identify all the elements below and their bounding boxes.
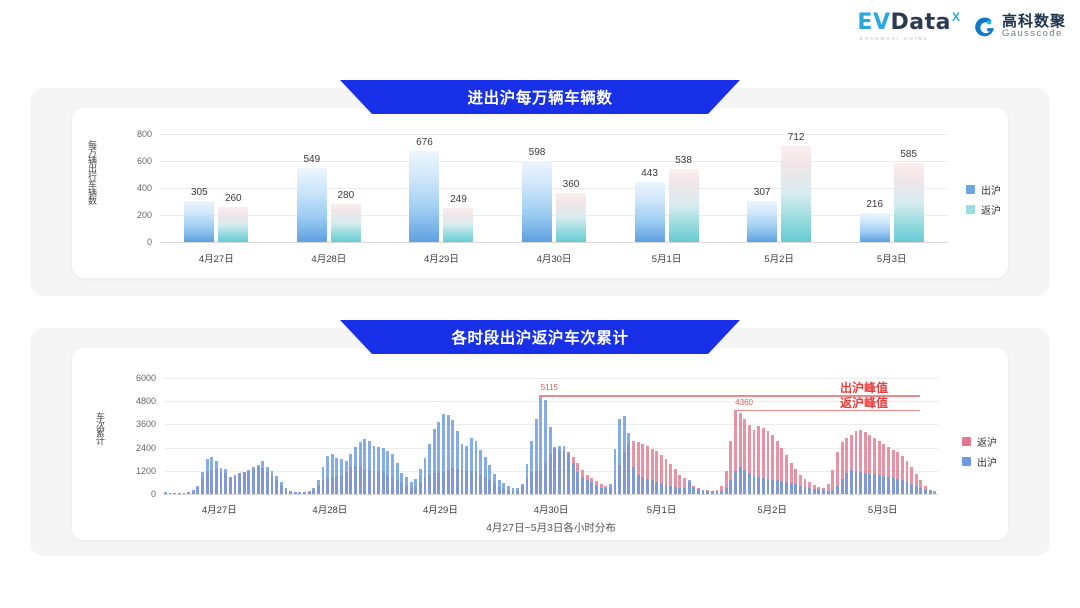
hourly-bar-out bbox=[206, 459, 209, 494]
hourly-bar-out bbox=[271, 471, 274, 494]
hourly-bar-out bbox=[192, 490, 195, 494]
hourly-bar-out bbox=[196, 486, 199, 494]
hourly-bar-out bbox=[428, 444, 431, 494]
gausscode-en: Gausscode bbox=[1002, 29, 1066, 39]
legend-section2: 返沪出沪 bbox=[962, 434, 997, 469]
hourly-bar-out bbox=[864, 473, 867, 494]
hourly-bar-out bbox=[651, 480, 654, 494]
hourly-bar-out bbox=[702, 490, 705, 494]
y-tick-label: 0 bbox=[120, 237, 152, 247]
hourly-bar-out bbox=[173, 493, 176, 494]
y-tick-label: 3600 bbox=[122, 419, 156, 429]
hourly-bar-out bbox=[901, 480, 904, 494]
x-tick-label: 5月3日 bbox=[868, 502, 898, 516]
hourly-bar-out bbox=[224, 469, 227, 494]
x-tick-label: 4月30日 bbox=[537, 251, 572, 265]
bar-返沪-5月2日 bbox=[781, 146, 811, 242]
hourly-bar-out bbox=[567, 453, 570, 494]
hourly-bar-out bbox=[780, 481, 783, 494]
legend-swatch-出沪 bbox=[966, 185, 975, 194]
hourly-bar-out bbox=[753, 476, 756, 494]
hourly-bar-out bbox=[215, 461, 218, 494]
x-tick-label: 4月28日 bbox=[312, 502, 347, 516]
hourly-bar-out bbox=[544, 400, 547, 494]
bar-出沪-5月2日 bbox=[747, 201, 777, 242]
hourly-bar-out bbox=[234, 475, 237, 494]
hourly-bar-out bbox=[697, 489, 700, 494]
legend-swatch-出沪 bbox=[962, 457, 971, 466]
logo-bar: EVData X SHANGHAI CHINA 高科数聚 Gausscode bbox=[857, 12, 1066, 41]
annotation-line-返沪峰值 bbox=[734, 410, 920, 411]
hourly-bar-out bbox=[553, 447, 556, 494]
hourly-bar-out bbox=[488, 465, 491, 494]
section1-title-ribbon: 进出沪每万辆车辆数 bbox=[340, 80, 740, 114]
x-tick-label: 4月29日 bbox=[423, 502, 458, 516]
bar-value-label: 216 bbox=[866, 199, 883, 210]
bar-出沪-4月30日 bbox=[522, 161, 552, 242]
x-tick-label: 5月1日 bbox=[652, 251, 682, 265]
legend-label-返沪: 返沪 bbox=[977, 434, 997, 449]
hourly-bar-out bbox=[933, 491, 936, 494]
bar-返沪-4月30日 bbox=[556, 193, 586, 242]
hourly-bar-out bbox=[637, 475, 640, 494]
bar-value-label: 360 bbox=[563, 179, 580, 190]
hourly-bar-out bbox=[734, 471, 737, 494]
bar-value-label: 598 bbox=[529, 147, 546, 158]
section1-card: 每万辆出行车辆数02004006008003052604月27日5492804月… bbox=[72, 108, 1008, 278]
y-tick-label: 400 bbox=[120, 183, 152, 193]
hourly-bar-out bbox=[859, 472, 862, 494]
bar-出沪-4月27日 bbox=[184, 201, 214, 242]
hourly-bar-out bbox=[896, 479, 899, 494]
hourly-bar-out bbox=[572, 463, 575, 494]
hourly-bar-out bbox=[220, 468, 223, 494]
legend-swatch-返沪 bbox=[966, 205, 975, 214]
gausscode-cn: 高科数聚 bbox=[1002, 14, 1066, 30]
evdata-suffix: Data bbox=[890, 10, 950, 35]
hourly-bar-out bbox=[308, 491, 311, 494]
legend-label-出沪: 出沪 bbox=[981, 182, 1001, 197]
hourly-bar-out bbox=[229, 477, 232, 494]
bar-出沪-5月1日 bbox=[635, 182, 665, 242]
hourly-bar-out bbox=[720, 491, 723, 494]
hourly-bar-out bbox=[303, 492, 306, 494]
hourly-bar-out bbox=[767, 479, 770, 494]
gridline bbox=[160, 215, 948, 216]
hourly-bar-out bbox=[771, 480, 774, 495]
hourly-bar-out bbox=[359, 442, 362, 494]
bar-返沪-4月27日 bbox=[218, 207, 248, 242]
hourly-bar-out bbox=[530, 441, 533, 494]
hourly-bar-out bbox=[493, 474, 496, 494]
bar-value-label: 305 bbox=[191, 187, 208, 198]
hourly-bar-out bbox=[614, 449, 617, 494]
bar-value-label: 280 bbox=[338, 190, 355, 201]
hourly-bar-out bbox=[595, 485, 598, 494]
hourly-bar-out bbox=[576, 472, 579, 494]
gridline bbox=[164, 401, 938, 402]
hourly-bar-out bbox=[868, 474, 871, 494]
bar-value-label: 549 bbox=[304, 154, 321, 165]
hourly-bar-out bbox=[655, 482, 658, 494]
hourly-bar-out bbox=[790, 483, 793, 494]
hourly-bar-out bbox=[437, 422, 440, 495]
hourly-bar-out bbox=[164, 492, 167, 494]
hourly-bar-out bbox=[887, 477, 890, 494]
hourly-bar-out bbox=[456, 431, 459, 494]
hourly-bar-out bbox=[919, 488, 922, 494]
hourly-bar-out bbox=[910, 484, 913, 494]
hourly-bar-out bbox=[201, 472, 204, 494]
hourly-bar-out bbox=[294, 492, 297, 494]
hourly-bar-out bbox=[711, 491, 714, 494]
bar-出沪-4月29日 bbox=[409, 151, 439, 242]
bar-出沪-5月3日 bbox=[860, 213, 890, 242]
bar-返沪-4月28日 bbox=[331, 204, 361, 242]
hourly-bar-out bbox=[280, 482, 283, 494]
hourly-bar-out bbox=[410, 482, 413, 494]
hourly-bar-out bbox=[623, 416, 626, 494]
bar-返沪-5月3日 bbox=[894, 163, 924, 242]
y-tick-label: 2400 bbox=[122, 443, 156, 453]
hourly-bar-out bbox=[845, 473, 848, 494]
hourly-bar-out bbox=[521, 484, 524, 494]
gridline bbox=[164, 378, 938, 379]
hourly-bar-out bbox=[646, 479, 649, 494]
hourly-bar-out bbox=[470, 438, 473, 494]
bar-value-label: 307 bbox=[754, 187, 771, 198]
y-tick-label: 600 bbox=[120, 156, 152, 166]
gridline bbox=[160, 134, 948, 135]
hourly-bar-out bbox=[512, 488, 515, 494]
hourly-bar-out bbox=[600, 488, 603, 494]
g-circle-icon bbox=[974, 16, 996, 38]
hourly-bar-out bbox=[516, 488, 519, 494]
hourly-chart-trips: 车次累计0120024003600480060004月27日4月28日4月29日… bbox=[72, 348, 1008, 540]
hourly-bar-out bbox=[377, 447, 380, 494]
hourly-bar-out bbox=[424, 458, 427, 494]
hourly-bar-out bbox=[669, 486, 672, 494]
hourly-bar-out bbox=[507, 486, 510, 494]
hourly-bar-out bbox=[841, 479, 844, 494]
hourly-bar-out bbox=[373, 446, 376, 494]
hourly-bar-out bbox=[678, 488, 681, 494]
hourly-bar-out bbox=[419, 469, 422, 494]
hourly-bar-out bbox=[285, 488, 288, 494]
gridline bbox=[164, 424, 938, 425]
hourly-bar-out bbox=[757, 477, 760, 494]
hourly-bar-out bbox=[405, 477, 408, 494]
hourly-bar-out bbox=[813, 489, 816, 494]
legend-item-出沪[interactable]: 出沪 bbox=[962, 454, 997, 469]
bar-value-label: 443 bbox=[641, 168, 658, 179]
hourly-bar-out bbox=[609, 484, 612, 494]
hourly-bar-out bbox=[618, 419, 621, 494]
hourly-bar-out bbox=[539, 395, 542, 494]
hourly-bar-out bbox=[275, 476, 278, 494]
y-tick-label: 200 bbox=[120, 210, 152, 220]
section2-card: 车次累计0120024003600480060004月27日4月28日4月29日… bbox=[72, 348, 1008, 540]
bar-value-label: 676 bbox=[416, 137, 433, 148]
hourly-bar-out bbox=[484, 457, 487, 494]
hourly-bar-out bbox=[210, 457, 213, 494]
x-tick-label: 4月30日 bbox=[534, 502, 569, 516]
x-tick-label: 5月2日 bbox=[764, 251, 794, 265]
hourly-bar-out bbox=[683, 488, 686, 494]
hourly-bar-out bbox=[924, 489, 927, 494]
evdata-wordmark: EVData bbox=[857, 12, 951, 34]
bar-返沪-4月29日 bbox=[443, 208, 473, 242]
peak-value-返沪峰值: 4360 bbox=[735, 398, 753, 407]
hourly-bar-out bbox=[461, 444, 464, 494]
legend-label-返沪: 返沪 bbox=[981, 202, 1001, 217]
hourly-bar-out bbox=[340, 459, 343, 494]
hourly-bar-out bbox=[526, 464, 529, 494]
hourly-bar-out bbox=[739, 467, 742, 494]
bar-chart-vehicles: 每万辆出行车辆数02004006008003052604月27日5492804月… bbox=[72, 108, 1008, 278]
hourly-bar-out bbox=[794, 484, 797, 494]
hourly-bar-out bbox=[382, 448, 385, 494]
hourly-bar-out bbox=[716, 491, 719, 494]
gridline bbox=[164, 494, 938, 495]
hourly-bar-out bbox=[627, 433, 630, 494]
hourly-bar-out bbox=[799, 486, 802, 495]
hourly-bar-out bbox=[169, 493, 172, 494]
hourly-bar-out bbox=[882, 476, 885, 494]
gridline bbox=[160, 242, 948, 243]
hourly-bar-out bbox=[261, 461, 264, 494]
gausscode-logo: 高科数聚 Gausscode bbox=[974, 14, 1066, 40]
hourly-bar-out bbox=[335, 458, 338, 494]
hourly-bar-out bbox=[808, 488, 811, 494]
hourly-bar-out bbox=[266, 467, 269, 494]
hourly-bar-out bbox=[604, 488, 607, 494]
hourly-bar-out bbox=[743, 470, 746, 494]
hourly-bar-out bbox=[400, 473, 403, 494]
hourly-bar-out bbox=[725, 488, 728, 494]
hourly-bar-out bbox=[586, 480, 589, 494]
bar-value-label: 585 bbox=[900, 149, 917, 160]
hourly-bar-out bbox=[386, 451, 389, 495]
hourly-bar-out bbox=[558, 446, 561, 494]
hourly-bar-out bbox=[929, 490, 932, 494]
bar-返沪-5月1日 bbox=[669, 169, 699, 242]
hourly-bar-out bbox=[243, 472, 246, 494]
hourly-bar-out bbox=[688, 480, 691, 494]
hourly-bar-out bbox=[475, 441, 478, 494]
x-tick-label: 5月2日 bbox=[757, 502, 787, 516]
evdata-superscript-icon: X bbox=[952, 10, 960, 24]
hourly-bar-out bbox=[827, 491, 830, 494]
hourly-bar-out bbox=[632, 467, 635, 494]
legend-label-出沪: 出沪 bbox=[977, 454, 997, 469]
hourly-bar-out bbox=[729, 480, 732, 495]
hourly-bar-out bbox=[660, 483, 663, 494]
legend-item-出沪[interactable]: 出沪 bbox=[966, 182, 1001, 197]
hourly-bar-out bbox=[878, 475, 881, 494]
y-tick-label: 0 bbox=[122, 489, 156, 499]
evdata-tagline: SHANGHAI CHINA bbox=[859, 36, 929, 41]
hourly-bar-out bbox=[641, 477, 644, 494]
hourly-bar-out bbox=[502, 483, 505, 494]
y-axis-label-section2: 车次累计 bbox=[94, 412, 107, 444]
hourly-bar-out bbox=[748, 473, 751, 494]
hourly-bar-out bbox=[368, 441, 371, 494]
y-tick-label: 4800 bbox=[122, 396, 156, 406]
x-axis-caption: 4月27日~5月3日各小时分布 bbox=[486, 520, 616, 535]
legend-swatch-返沪 bbox=[962, 437, 971, 446]
hourly-bar-out bbox=[850, 470, 853, 494]
hourly-bar-out bbox=[822, 490, 825, 494]
hourly-bar-out bbox=[187, 492, 190, 494]
hourly-bar-out bbox=[549, 427, 552, 494]
hourly-bar-out bbox=[665, 485, 668, 494]
legend-section1: 出沪返沪 bbox=[966, 182, 1001, 217]
hourly-bar-out bbox=[252, 467, 255, 494]
hourly-bar-out bbox=[289, 491, 292, 494]
legend-item-返沪[interactable]: 返沪 bbox=[962, 434, 997, 449]
hourly-bar-out bbox=[915, 486, 918, 494]
gridline bbox=[160, 188, 948, 189]
gridline bbox=[160, 161, 948, 162]
hourly-bar-out bbox=[447, 415, 450, 494]
hourly-bar-out bbox=[581, 477, 584, 494]
x-tick-label: 4月29日 bbox=[424, 251, 459, 265]
hourly-bar-out bbox=[498, 480, 501, 494]
hourly-bar-out bbox=[804, 487, 807, 494]
hourly-bar-out bbox=[776, 480, 779, 494]
hourly-bar-out bbox=[312, 488, 315, 494]
slide-root: EVData X SHANGHAI CHINA 高科数聚 Gausscode 每… bbox=[0, 0, 1080, 608]
hourly-bar-out bbox=[326, 456, 329, 494]
hourly-bar-out bbox=[563, 446, 566, 494]
x-tick-label: 5月3日 bbox=[877, 251, 907, 265]
hourly-bar-out bbox=[674, 487, 677, 494]
hourly-bar-out bbox=[831, 490, 834, 494]
hourly-bar-out bbox=[479, 450, 482, 494]
hourly-bar-out bbox=[590, 482, 593, 494]
hourly-bar-out bbox=[762, 478, 765, 494]
bar-value-label: 538 bbox=[675, 155, 692, 166]
hourly-bar-out bbox=[465, 446, 468, 494]
hourly-bar-out bbox=[873, 474, 876, 494]
hourly-bar-out bbox=[414, 479, 417, 494]
hourly-bar-out bbox=[298, 492, 301, 494]
annotation-label-返沪峰值: 返沪峰值 bbox=[840, 394, 888, 411]
hourly-bar-out bbox=[247, 470, 250, 494]
hourly-bar-out bbox=[322, 467, 325, 494]
evdata-prefix: EV bbox=[857, 10, 890, 35]
hourly-bar-out bbox=[692, 487, 695, 494]
hourly-bar-out bbox=[442, 414, 445, 494]
section2-title-ribbon: 各时段出沪返沪车次累计 bbox=[340, 320, 740, 354]
hourly-bar-out bbox=[451, 420, 454, 494]
hourly-bar-out bbox=[331, 454, 334, 494]
hourly-bar-out bbox=[363, 439, 366, 494]
section1-panel: 每万辆出行车辆数02004006008003052604月27日5492804月… bbox=[30, 88, 1050, 296]
x-tick-label: 4月27日 bbox=[199, 251, 234, 265]
hourly-bar-out bbox=[349, 454, 352, 494]
hourly-bar-out bbox=[257, 465, 260, 494]
hourly-bar-out bbox=[238, 473, 241, 494]
hourly-bar-out bbox=[785, 482, 788, 494]
hourly-bar-out bbox=[817, 489, 820, 494]
section1-title: 进出沪每万辆车辆数 bbox=[468, 86, 613, 108]
section2-panel: 车次累计0120024003600480060004月27日4月28日4月29日… bbox=[30, 328, 1050, 556]
x-tick-label: 4月27日 bbox=[202, 502, 237, 516]
y-axis-label-section1: 每万辆出行车辆数 bbox=[86, 140, 99, 238]
y-tick-label: 800 bbox=[120, 129, 152, 139]
bar-value-label: 249 bbox=[450, 194, 467, 205]
section2-title: 各时段出沪返沪车次累计 bbox=[451, 326, 628, 348]
hourly-bar-out bbox=[433, 429, 436, 494]
hourly-bar-out bbox=[354, 447, 357, 494]
hourly-bar-out bbox=[183, 493, 186, 494]
hourly-bar-out bbox=[396, 463, 399, 494]
hourly-bar-out bbox=[317, 480, 320, 494]
bar-value-label: 712 bbox=[788, 132, 805, 143]
peak-value-出沪峰值: 5115 bbox=[541, 383, 558, 392]
hourly-bar-out bbox=[836, 486, 839, 494]
legend-item-返沪[interactable]: 返沪 bbox=[966, 202, 1001, 217]
hourly-bar-out bbox=[178, 493, 181, 494]
hourly-bar-out bbox=[706, 491, 709, 494]
hourly-bar-out bbox=[855, 471, 858, 494]
hourly-bar-out bbox=[391, 454, 394, 494]
bar-value-label: 260 bbox=[225, 193, 242, 204]
hourly-bar-out bbox=[535, 419, 538, 494]
evdata-logo: EVData X SHANGHAI CHINA bbox=[857, 12, 960, 41]
bar-出沪-4月28日 bbox=[297, 168, 327, 242]
y-tick-label: 1200 bbox=[122, 466, 156, 476]
hourly-bar-out bbox=[892, 478, 895, 494]
y-tick-label: 6000 bbox=[122, 373, 156, 383]
x-tick-label: 4月28日 bbox=[311, 251, 346, 265]
hourly-bar-out bbox=[345, 461, 348, 494]
x-tick-label: 5月1日 bbox=[647, 502, 677, 516]
hourly-bar-out bbox=[906, 482, 909, 494]
